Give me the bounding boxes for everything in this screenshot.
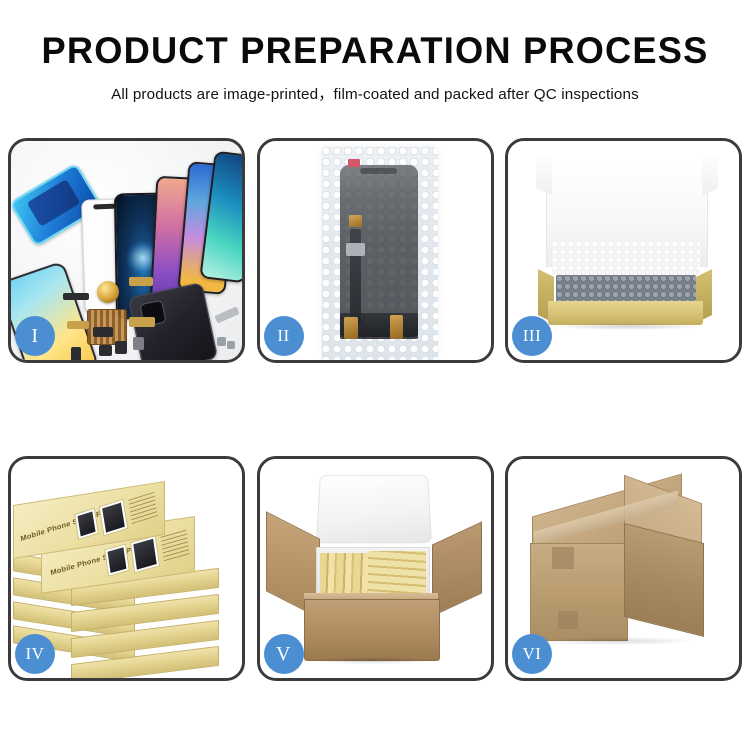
box-window-graphic [74,508,99,541]
red-label-graphic [348,159,360,167]
carton-flap-seam-graphic [558,611,578,629]
gold-contact-graphic [344,317,358,339]
process-step-panel-1[interactable]: I [8,138,245,363]
process-step-panel-5[interactable]: V [257,456,494,681]
page-subtitle: All products are image-printed，film-coat… [0,82,750,104]
small-part-graphic [115,341,127,354]
small-part-graphic [71,347,81,360]
speaker-coil-part-graphic [97,281,119,303]
carton-front-graphic [304,599,440,661]
carton-flap-seam-graphic [552,547,574,569]
step-badge-3: III [512,316,552,356]
screw-graphic [227,341,235,349]
process-step-panel-2[interactable]: II [257,138,494,363]
box-window-graphic [99,499,129,537]
small-part-graphic [63,293,89,300]
flex-cable-graphic [67,321,89,329]
gold-contact-graphic [390,315,403,339]
carton-front-face-graphic [530,543,628,641]
box-spec-lines-graphic [128,492,158,524]
gold-contact-graphic [349,215,362,227]
bubble-wrap-graphic [322,147,438,360]
flex-cable-graphic [129,317,155,327]
foam-sheet-graphic [552,241,700,277]
connector-graphic [346,243,365,256]
drop-shadow [552,323,702,330]
page-header: PRODUCT PREPARATION PROCESS All products… [0,0,750,104]
step-badge-2: II [264,316,304,356]
drop-shadow [310,657,434,664]
small-part-graphic [93,327,113,337]
kraft-tray-front-graphic [548,301,703,325]
step-badge-5: V [264,634,304,674]
drop-shadow [536,637,696,645]
packed-boxes-graphic [368,551,426,597]
process-step-grid: I II [0,138,750,681]
process-step-panel-3[interactable]: III [505,138,742,363]
screw-graphic [217,337,226,346]
page-title: PRODUCT PREPARATION PROCESS [8,32,743,71]
small-part-graphic [99,345,112,356]
small-part-graphic [133,337,144,350]
process-row-bottom: Mobile Phone Spare Parts Mobile Phone Sp… [0,456,750,681]
box-window-graphic [104,543,130,576]
bubble-wrap-insert-graphic [556,275,696,303]
process-row-top: I II [0,138,750,363]
step-badge-6: VI [512,634,552,674]
foam-lid-graphic [315,475,431,543]
process-step-panel-4[interactable]: Mobile Phone Spare Parts Mobile Phone Sp… [8,456,245,681]
carton-side-face-graphic [624,523,704,637]
step-badge-1: I [15,316,55,356]
flex-cable-graphic [129,277,153,286]
process-step-panel-6[interactable]: VI [505,456,742,681]
box-window-graphic [130,535,160,573]
step-badge-4: IV [15,634,55,674]
